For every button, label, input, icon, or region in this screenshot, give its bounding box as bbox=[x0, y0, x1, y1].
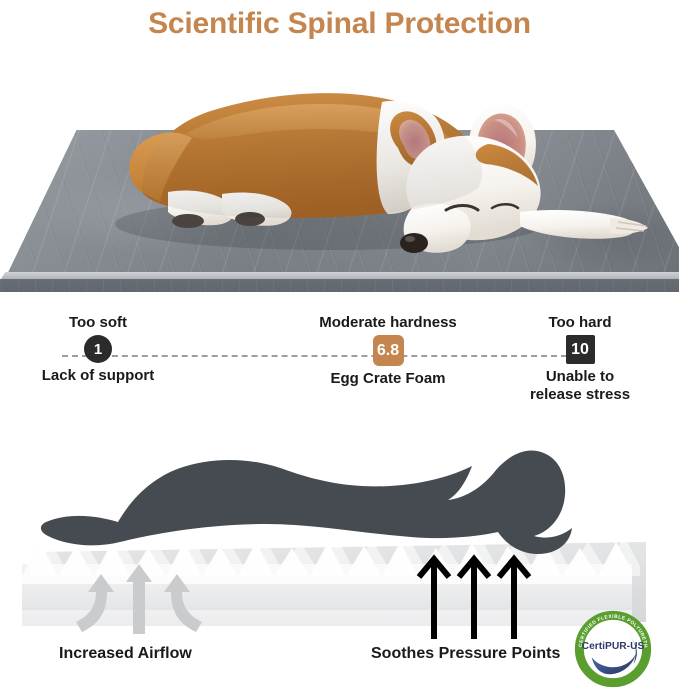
page-title-band: Scientific Spinal Protection bbox=[0, 0, 679, 48]
dog-body-shading bbox=[142, 93, 482, 218]
dog-silhouette bbox=[41, 451, 572, 554]
scale-stop-bottom-label: Lack of support bbox=[8, 367, 188, 385]
scale-marker-6-8[interactable]: 6.8 bbox=[373, 335, 404, 366]
certipur-wordmark: CertiPUR-US bbox=[582, 641, 645, 652]
foam-bottom-fade bbox=[22, 610, 632, 628]
scale-marker-row: 1 bbox=[8, 335, 188, 363]
scale-marker-1[interactable]: 1 bbox=[84, 335, 112, 363]
scale-stop-bottom-label-line1: Unable to bbox=[490, 368, 670, 386]
scale-stop-top-label: Moderate hardness bbox=[298, 314, 478, 331]
scale-marker-row: 6.8 bbox=[298, 335, 478, 366]
scale-stop-bottom-label-line2: release stress bbox=[490, 386, 670, 404]
scale-marker-row: 10 bbox=[490, 335, 670, 364]
scale-stop-too-hard: Too hard 10 Unable to release stress bbox=[490, 314, 670, 404]
certipur-us-logo: CONTAINS CERTIFIED FLEXIBLE POLYURETHANE… bbox=[572, 608, 654, 690]
dog-paw-pad-1 bbox=[172, 214, 204, 228]
scale-marker-10[interactable]: 10 bbox=[566, 335, 595, 364]
scale-stop-top-label: Too soft bbox=[8, 314, 188, 331]
scale-stop-moderate: Moderate hardness 6.8 Egg Crate Foam bbox=[298, 314, 478, 388]
corgi-dog-photo bbox=[0, 42, 679, 292]
scale-stop-top-label: Too hard bbox=[490, 314, 670, 331]
label-increased-airflow: Increased Airflow bbox=[59, 645, 192, 663]
page-title: Scientific Spinal Protection bbox=[148, 7, 531, 41]
pressure-arrows bbox=[419, 559, 529, 639]
hero-product-photo bbox=[0, 42, 679, 292]
scale-stop-bottom-label: Egg Crate Foam bbox=[298, 370, 478, 388]
label-soothes-pressure-points: Soothes Pressure Points bbox=[371, 645, 560, 663]
scale-stop-too-soft: Too soft 1 Lack of support bbox=[8, 314, 188, 385]
dog-nose-highlight bbox=[405, 236, 415, 242]
dog-nose bbox=[400, 233, 428, 253]
hardness-scale: Too soft 1 Lack of support Moderate hard… bbox=[0, 300, 679, 420]
